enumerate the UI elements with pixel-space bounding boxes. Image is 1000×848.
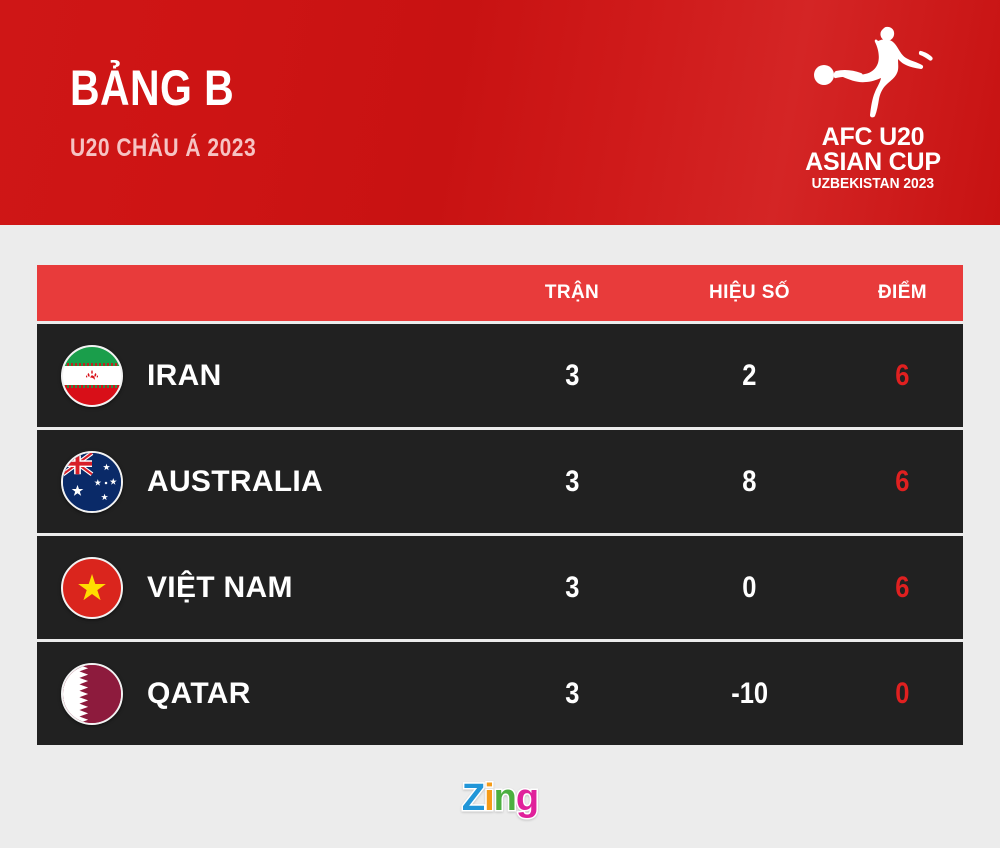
played-value: 3 (565, 677, 579, 711)
header-banner: BẢNG B U20 CHÂU Á 2023 AFC U20 ASIAN CUP… (0, 0, 1000, 225)
goal-difference-value: 2 (742, 359, 756, 393)
vietnam-flag-star: ★ (76, 570, 108, 606)
team-name: VIỆT NAM (147, 571, 293, 604)
zing-letter-g: g (516, 779, 538, 817)
played-cell: 3 (487, 677, 657, 711)
flag-cell (37, 451, 147, 513)
page-subtitle: U20 CHÂU Á 2023 (70, 136, 256, 161)
points-value: 0 (895, 677, 909, 711)
team-name: IRAN (147, 359, 222, 392)
australia-flag-art (63, 453, 121, 511)
logo-line-1: AFC U20 (805, 125, 941, 150)
points-value: 6 (895, 359, 909, 393)
goal-difference-value: 8 (742, 465, 756, 499)
table-row[interactable]: IRAN 3 2 6 (37, 324, 963, 427)
played-value: 3 (565, 359, 579, 393)
goal-difference-value: 0 (742, 571, 756, 605)
flag-cell (37, 663, 147, 725)
points-cell: 6 (842, 359, 963, 393)
zing-letter-z: Z (462, 779, 484, 817)
played-value: 3 (565, 571, 579, 605)
played-value: 3 (565, 465, 579, 499)
played-cell: 3 (487, 359, 657, 393)
page-title: BẢNG B (70, 63, 234, 113)
team-name-cell: QATAR (147, 677, 487, 711)
goal-difference-cell: -10 (657, 677, 842, 711)
iran-flag-red-band (63, 385, 121, 404)
flag-cell: ★ (37, 557, 147, 619)
played-cell: 3 (487, 465, 657, 499)
zing-logo[interactable]: Zing (462, 779, 538, 817)
australia-flag-icon (61, 451, 123, 513)
points-cell: 6 (842, 571, 963, 605)
zing-letter-i: i (484, 779, 494, 817)
goal-difference-cell: 0 (657, 571, 842, 605)
points-cell: 0 (842, 677, 963, 711)
table-row[interactable]: QATAR 3 -10 0 (37, 642, 963, 745)
team-name: QATAR (147, 677, 251, 710)
goal-difference-cell: 8 (657, 465, 842, 499)
goal-difference-cell: 2 (657, 359, 842, 393)
column-header-points: ĐIỂM (842, 282, 963, 304)
qatar-flag-icon (61, 663, 123, 725)
vietnam-flag-icon: ★ (61, 557, 123, 619)
points-value: 6 (895, 571, 909, 605)
iran-flag-icon (61, 345, 123, 407)
column-header-played-label: TRẬN (545, 282, 599, 303)
iran-flag-emblem (84, 368, 100, 383)
logo-line-3: UZBEKISTAN 2023 (811, 174, 936, 194)
iran-flag-kufic-bottom (63, 385, 121, 388)
team-name-cell: IRAN (147, 359, 487, 393)
team-name-cell: VIỆT NAM (147, 571, 487, 605)
table-row[interactable]: ★ VIỆT NAM 3 0 6 (37, 536, 963, 639)
column-header-played: TRẬN (487, 282, 657, 304)
points-cell: 6 (842, 465, 963, 499)
team-name: AUSTRALIA (147, 465, 323, 498)
qatar-flag-art (63, 665, 121, 723)
table-header-row: TRẬN HIỆU SỐ ĐIỂM (37, 265, 963, 321)
column-header-goal-difference: HIỆU SỐ (657, 282, 842, 304)
table-row[interactable]: AUSTRALIA 3 8 6 (37, 430, 963, 533)
flag-cell (37, 345, 147, 407)
played-cell: 3 (487, 571, 657, 605)
footballer-kicking-ball-icon (808, 23, 938, 123)
iran-flag-kufic-top (63, 363, 121, 366)
column-header-points-label: ĐIỂM (878, 282, 927, 303)
points-value: 6 (895, 465, 909, 499)
column-header-goal-difference-label: HIỆU SỐ (709, 282, 790, 303)
footer: Zing (0, 748, 1000, 848)
logo-line-2: ASIAN CUP (805, 150, 941, 175)
zing-letter-n: n (494, 779, 516, 817)
standings-table: TRẬN HIỆU SỐ ĐIỂM IRAN 3 (37, 265, 963, 745)
afc-u20-asian-cup-logo: AFC U20 ASIAN CUP UZBEKISTAN 2023 (793, 23, 953, 195)
goal-difference-value: -10 (731, 677, 768, 711)
team-name-cell: AUSTRALIA (147, 465, 487, 499)
